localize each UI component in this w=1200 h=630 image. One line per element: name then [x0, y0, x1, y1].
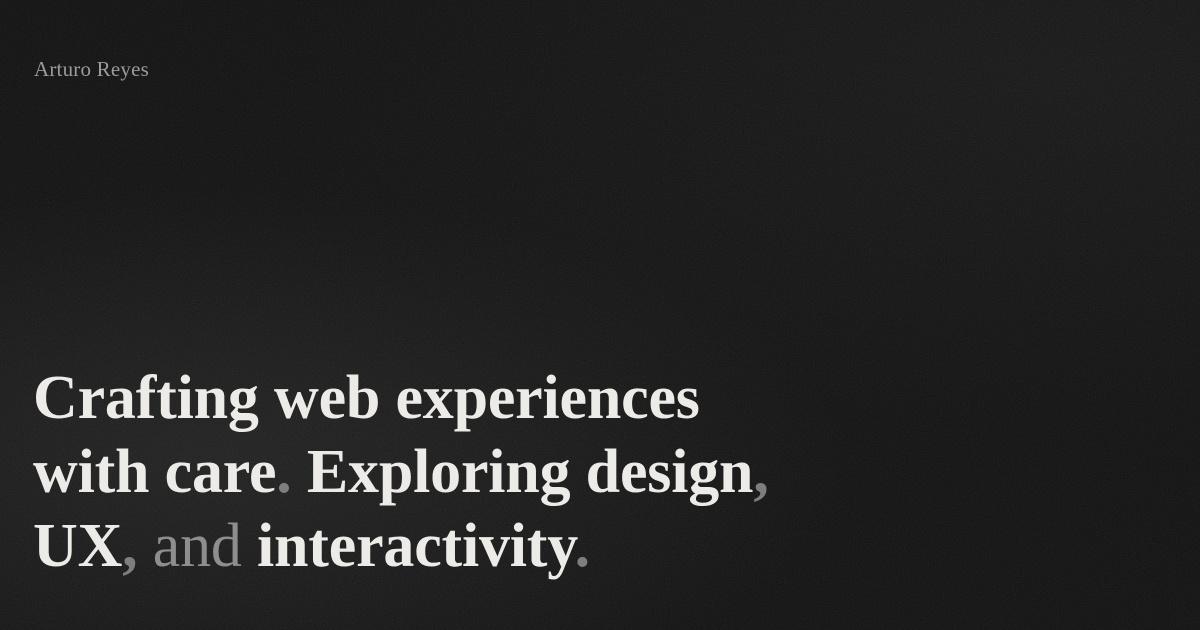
- headline-punctuation: .: [575, 512, 590, 580]
- headline-text: interactivity: [257, 512, 575, 580]
- headline-line-1: Crafting web experiences: [33, 361, 1093, 435]
- headline-text: with care: [33, 438, 276, 506]
- author-byline: Arturo Reyes: [34, 56, 149, 82]
- headline-punctuation: ,: [122, 512, 137, 580]
- headline-text: UX: [33, 512, 122, 580]
- author-name: Arturo Reyes: [34, 57, 149, 81]
- headline-punctuation: ,: [753, 438, 768, 506]
- og-card: Arturo Reyes Crafting web experiences wi…: [0, 0, 1200, 630]
- page-title: Crafting web experiences with care. Expl…: [33, 361, 1093, 583]
- headline-muted-word: and: [137, 512, 257, 580]
- headline-line-3: UX, and interactivity.: [33, 509, 1093, 583]
- headline-text: Exploring design: [292, 438, 754, 506]
- card-content: Arturo Reyes Crafting web experiences wi…: [0, 0, 1200, 630]
- headline-punctuation: .: [276, 438, 291, 506]
- headline-line-2: with care. Exploring design,: [33, 435, 1093, 509]
- headline-text: Crafting web experiences: [33, 364, 700, 432]
